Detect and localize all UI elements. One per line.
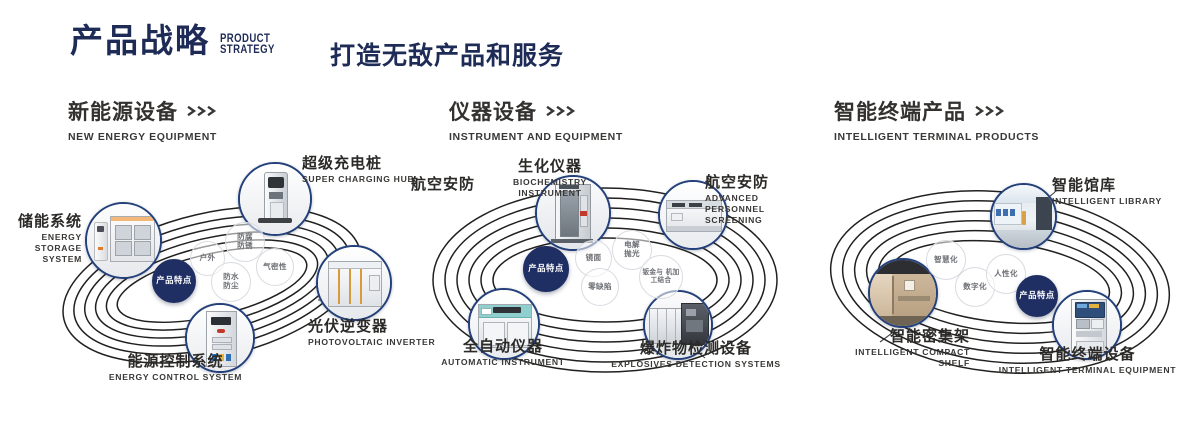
pv-inverter-cabinet-icon <box>318 247 390 319</box>
feature-bubble-waterproof-dustproof[interactable]: 防水 防尘 <box>211 262 251 302</box>
node-label-en: BIOCHEMISTRY INSTRUMENT <box>460 177 640 198</box>
product-strategy-infographic: 产品战略 PRODUCT STRATEGY 打造无敌产品和服务 新能源设备 NE… <box>0 0 1200 422</box>
node-label-en: INTELLIGENT COMPACT SHELF <box>790 347 970 368</box>
page-title: 产品战略 <box>70 24 210 57</box>
section-title-intelligent-terminal-cn-row: 智能终端产品 <box>834 96 1039 126</box>
node-label-cn: 储能系统 <box>0 213 82 230</box>
feature-bubble-airtightness[interactable]: 气密性 <box>256 248 294 286</box>
node-label-cn: 全自动仪器 <box>414 338 592 355</box>
feature-bubble-label: 智慧化 <box>932 256 960 265</box>
node-label-cn: 智能终端设备 <box>980 346 1195 363</box>
node-label-energy-storage-system: 储能系统 ENERGY STORAGE SYSTEM <box>0 213 82 264</box>
node-energy-storage-system[interactable] <box>85 202 162 279</box>
feature-bubble-label: 防水 防尘 <box>221 273 241 290</box>
section-title-new-energy-en: NEW ENERGY EQUIPMENT <box>68 131 221 143</box>
section-title-instrument-cn-row: 仪器设备 <box>449 96 623 126</box>
section-title-new-energy-cn: 新能源设备 <box>68 96 178 126</box>
node-label-cn: 超级充电桩 <box>302 155 414 172</box>
node-label-cn: 航空安防 <box>411 176 475 193</box>
feature-bubble-zero-defect[interactable]: 零缺陷 <box>581 268 619 306</box>
cluster-new-energy: 储能系统 ENERGY STORAGE SYSTEM 超级充电桩 SUPER C… <box>0 150 420 420</box>
node-label-aviation-security-left: 航空安防 <box>411 176 475 193</box>
node-label-biochemistry-instrument: 生化仪器 BIOCHEMISTRY INSTRUMENT <box>460 158 640 199</box>
feature-bubble-label: 气密性 <box>261 263 289 272</box>
core-bubble-product-features[interactable]: 产品特点 <box>523 246 569 292</box>
node-label-en: SUPER CHARGING HUB <box>302 174 414 185</box>
page-title-english: PRODUCT STRATEGY <box>220 33 275 55</box>
node-label-explosives-detection-systems: 爆炸物检测设备 EXPLOSIVES DETECTION SYSTEMS <box>586 340 806 370</box>
smart-library-room-icon <box>992 185 1055 248</box>
node-label-intelligent-compact-shelf: 智能密集架 INTELLIGENT COMPACT SHELF <box>790 328 970 369</box>
node-label-energy-control-system: 能源控制系统 ENERGY CONTROL SYSTEM <box>83 353 268 383</box>
core-bubble-product-features[interactable]: 产品特点 <box>152 259 196 303</box>
chevron-right-icon <box>975 105 1009 117</box>
feature-bubble-label: 钣金与 机加工结合 <box>640 269 682 284</box>
core-bubble-product-features[interactable]: 产品特点 <box>1016 275 1058 317</box>
node-label-en: INTELLIGENT LIBRARY <box>1052 196 1162 207</box>
node-label-super-charging-hub: 超级充电桩 SUPER CHARGING HUB <box>302 155 414 185</box>
node-label-en: AUTOMATIC INSTRUMENT <box>414 357 592 368</box>
chevron-right-icon <box>546 105 580 117</box>
feature-bubble-label: 电解 抛光 <box>622 241 642 258</box>
section-title-instrument-en: INSTRUMENT AND EQUIPMENT <box>449 131 623 143</box>
feature-bubble-label: 镜面 <box>584 254 604 263</box>
cluster-instrument: 生化仪器 BIOCHEMISTRY INSTRUMENT 航空安防 航空安防 A… <box>400 150 820 420</box>
section-title-intelligent-terminal-cn: 智能终端产品 <box>834 96 966 126</box>
section-title-new-energy-cn-row: 新能源设备 <box>68 96 221 126</box>
page-title-english-line2: STRATEGY <box>220 44 275 55</box>
node-label-en: EXPLOSIVES DETECTION SYSTEMS <box>586 359 806 370</box>
core-bubble-label: 产品特点 <box>526 264 566 274</box>
page-header: 产品战略 PRODUCT STRATEGY <box>70 24 288 57</box>
node-label-cn: 智能馆库 <box>1052 177 1162 194</box>
node-photovoltaic-inverter[interactable] <box>316 245 392 321</box>
node-label-en: ENERGY STORAGE SYSTEM <box>0 232 82 264</box>
feature-bubble-label: 户外 <box>198 254 218 263</box>
feature-bubble-label: 人性化 <box>992 270 1020 279</box>
core-bubble-label: 产品特点 <box>154 276 194 286</box>
node-intelligent-library[interactable] <box>990 183 1057 250</box>
section-title-intelligent-terminal: 智能终端产品 INTELLIGENT TERMINAL PRODUCTS <box>834 96 1039 143</box>
section-title-instrument-cn: 仪器设备 <box>449 96 537 126</box>
compact-shelf-icon <box>870 260 936 326</box>
chevron-right-icon <box>187 105 221 117</box>
section-title-intelligent-terminal-en: INTELLIGENT TERMINAL PRODUCTS <box>834 131 1039 143</box>
section-title-instrument: 仪器设备 INSTRUMENT AND EQUIPMENT <box>449 96 623 143</box>
node-label-cn: 爆炸物检测设备 <box>586 340 806 357</box>
node-label-en: INTELLIGENT TERMINAL EQUIPMENT <box>980 365 1195 376</box>
page-subtitle: 打造无敌产品和服务 <box>330 36 564 72</box>
feature-bubble-label: 数字化 <box>961 283 989 292</box>
node-label-intelligent-library: 智能馆库 INTELLIGENT LIBRARY <box>1052 177 1162 207</box>
feature-bubble-label: 防腐 防锈 <box>235 233 255 250</box>
node-label-automatic-instrument: 全自动仪器 AUTOMATIC INSTRUMENT <box>414 338 592 368</box>
node-label-en: ENERGY CONTROL SYSTEM <box>83 372 268 383</box>
cluster-intelligent-terminal: 智能馆库 INTELLIGENT LIBRARY 智能密集架 INTELLIGE… <box>800 150 1200 420</box>
core-bubble-label: 产品特点 <box>1017 291 1057 301</box>
node-label-cn: 智能密集架 <box>790 328 970 345</box>
feature-bubble-label: 零缺陷 <box>586 283 614 292</box>
node-label-cn: 生化仪器 <box>460 158 640 175</box>
energy-storage-cabinet-icon <box>87 204 160 277</box>
feature-bubble-sheetmetal-machining[interactable]: 钣金与 机加工结合 <box>639 255 683 299</box>
node-label-cn: 能源控制系统 <box>83 353 268 370</box>
section-title-new-energy: 新能源设备 NEW ENERGY EQUIPMENT <box>68 96 221 143</box>
node-label-intelligent-terminal-equipment: 智能终端设备 INTELLIGENT TERMINAL EQUIPMENT <box>980 346 1195 376</box>
